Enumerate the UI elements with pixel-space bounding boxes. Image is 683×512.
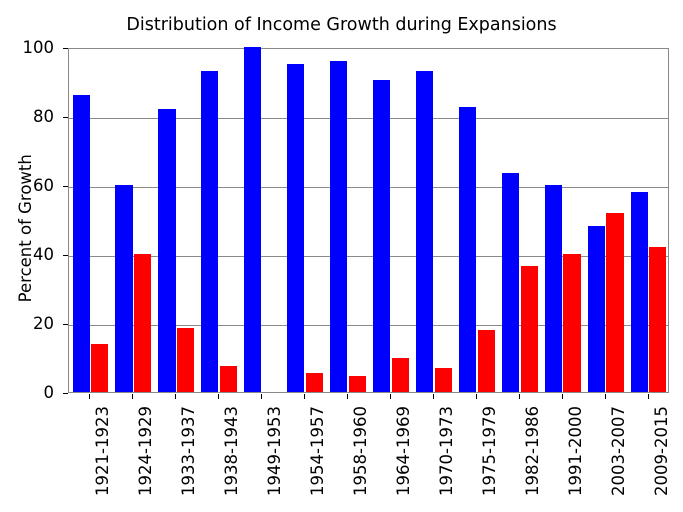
bars-layer <box>69 49 668 392</box>
bar-blue <box>588 226 605 392</box>
y-tick-label: 80 <box>33 109 54 126</box>
bar-blue <box>502 173 519 392</box>
x-tick-label: 1921-1923 <box>95 406 112 496</box>
y-tick-label: 0 <box>44 385 55 402</box>
bar-blue <box>631 192 648 392</box>
x-tick-mark <box>562 394 563 399</box>
chart-figure: Distribution of Income Growth during Exp… <box>0 0 683 512</box>
x-tick-mark <box>304 394 305 399</box>
x-tick-mark <box>433 394 434 399</box>
bar-blue <box>416 71 433 392</box>
bar-red <box>435 368 452 392</box>
y-tick-label: 40 <box>33 247 54 264</box>
bar-blue <box>545 185 562 392</box>
x-tick-label: 1975-1979 <box>482 406 499 496</box>
x-tick-mark <box>605 394 606 399</box>
plot-area <box>68 48 669 393</box>
bar-red <box>177 328 194 392</box>
y-tick-label: 60 <box>33 178 54 195</box>
bar-red <box>134 254 151 392</box>
x-tick-label: 1924-1929 <box>138 406 155 496</box>
y-tick-label: 20 <box>33 316 54 333</box>
bar-blue <box>244 47 261 392</box>
x-tick-mark <box>261 394 262 399</box>
chart-title: Distribution of Income Growth during Exp… <box>0 14 683 36</box>
bar-blue <box>115 185 132 392</box>
x-tick-label: 1958-1960 <box>353 406 370 496</box>
x-tick-label: 1970-1973 <box>439 406 456 496</box>
x-tick-mark <box>476 394 477 399</box>
y-tick-label: 100 <box>23 40 55 57</box>
x-tick-label: 1991-2000 <box>568 406 585 496</box>
bar-blue <box>287 64 304 392</box>
bar-red <box>91 344 108 392</box>
x-tick-label: 1938-1943 <box>224 406 241 496</box>
y-axis-title: Percent of Growth <box>18 98 35 358</box>
x-tick-label: 1949-1953 <box>267 406 284 496</box>
x-tick-label: 1954-1957 <box>310 406 327 496</box>
x-tick-label: 1933-1937 <box>181 406 198 496</box>
x-tick-label: 1964-1969 <box>396 406 413 496</box>
x-tick-mark <box>218 394 219 399</box>
x-tick-label: 2009-2015 <box>654 406 671 496</box>
x-axis: 1921-19231924-19291933-19371938-19431949… <box>68 394 669 512</box>
bar-red <box>392 358 409 393</box>
x-tick-mark <box>519 394 520 399</box>
bar-red <box>478 330 495 392</box>
x-tick-mark <box>390 394 391 399</box>
bar-red <box>220 366 237 392</box>
bar-blue <box>201 71 218 392</box>
bar-red <box>606 213 623 392</box>
bar-blue <box>73 95 90 392</box>
x-tick-mark <box>89 394 90 399</box>
bar-blue <box>158 109 175 392</box>
bar-red <box>521 266 538 392</box>
bar-red <box>649 247 666 392</box>
x-tick-label: 2003-2007 <box>611 406 628 496</box>
bar-blue <box>373 80 390 392</box>
bar-red <box>563 254 580 392</box>
x-tick-mark <box>347 394 348 399</box>
x-tick-mark <box>132 394 133 399</box>
x-tick-mark <box>648 394 649 399</box>
x-tick-label: 1982-1986 <box>525 406 542 496</box>
bar-red <box>306 373 323 392</box>
bar-blue <box>330 61 347 392</box>
bar-blue <box>459 107 476 392</box>
x-tick-mark <box>175 394 176 399</box>
bar-red <box>349 376 366 392</box>
